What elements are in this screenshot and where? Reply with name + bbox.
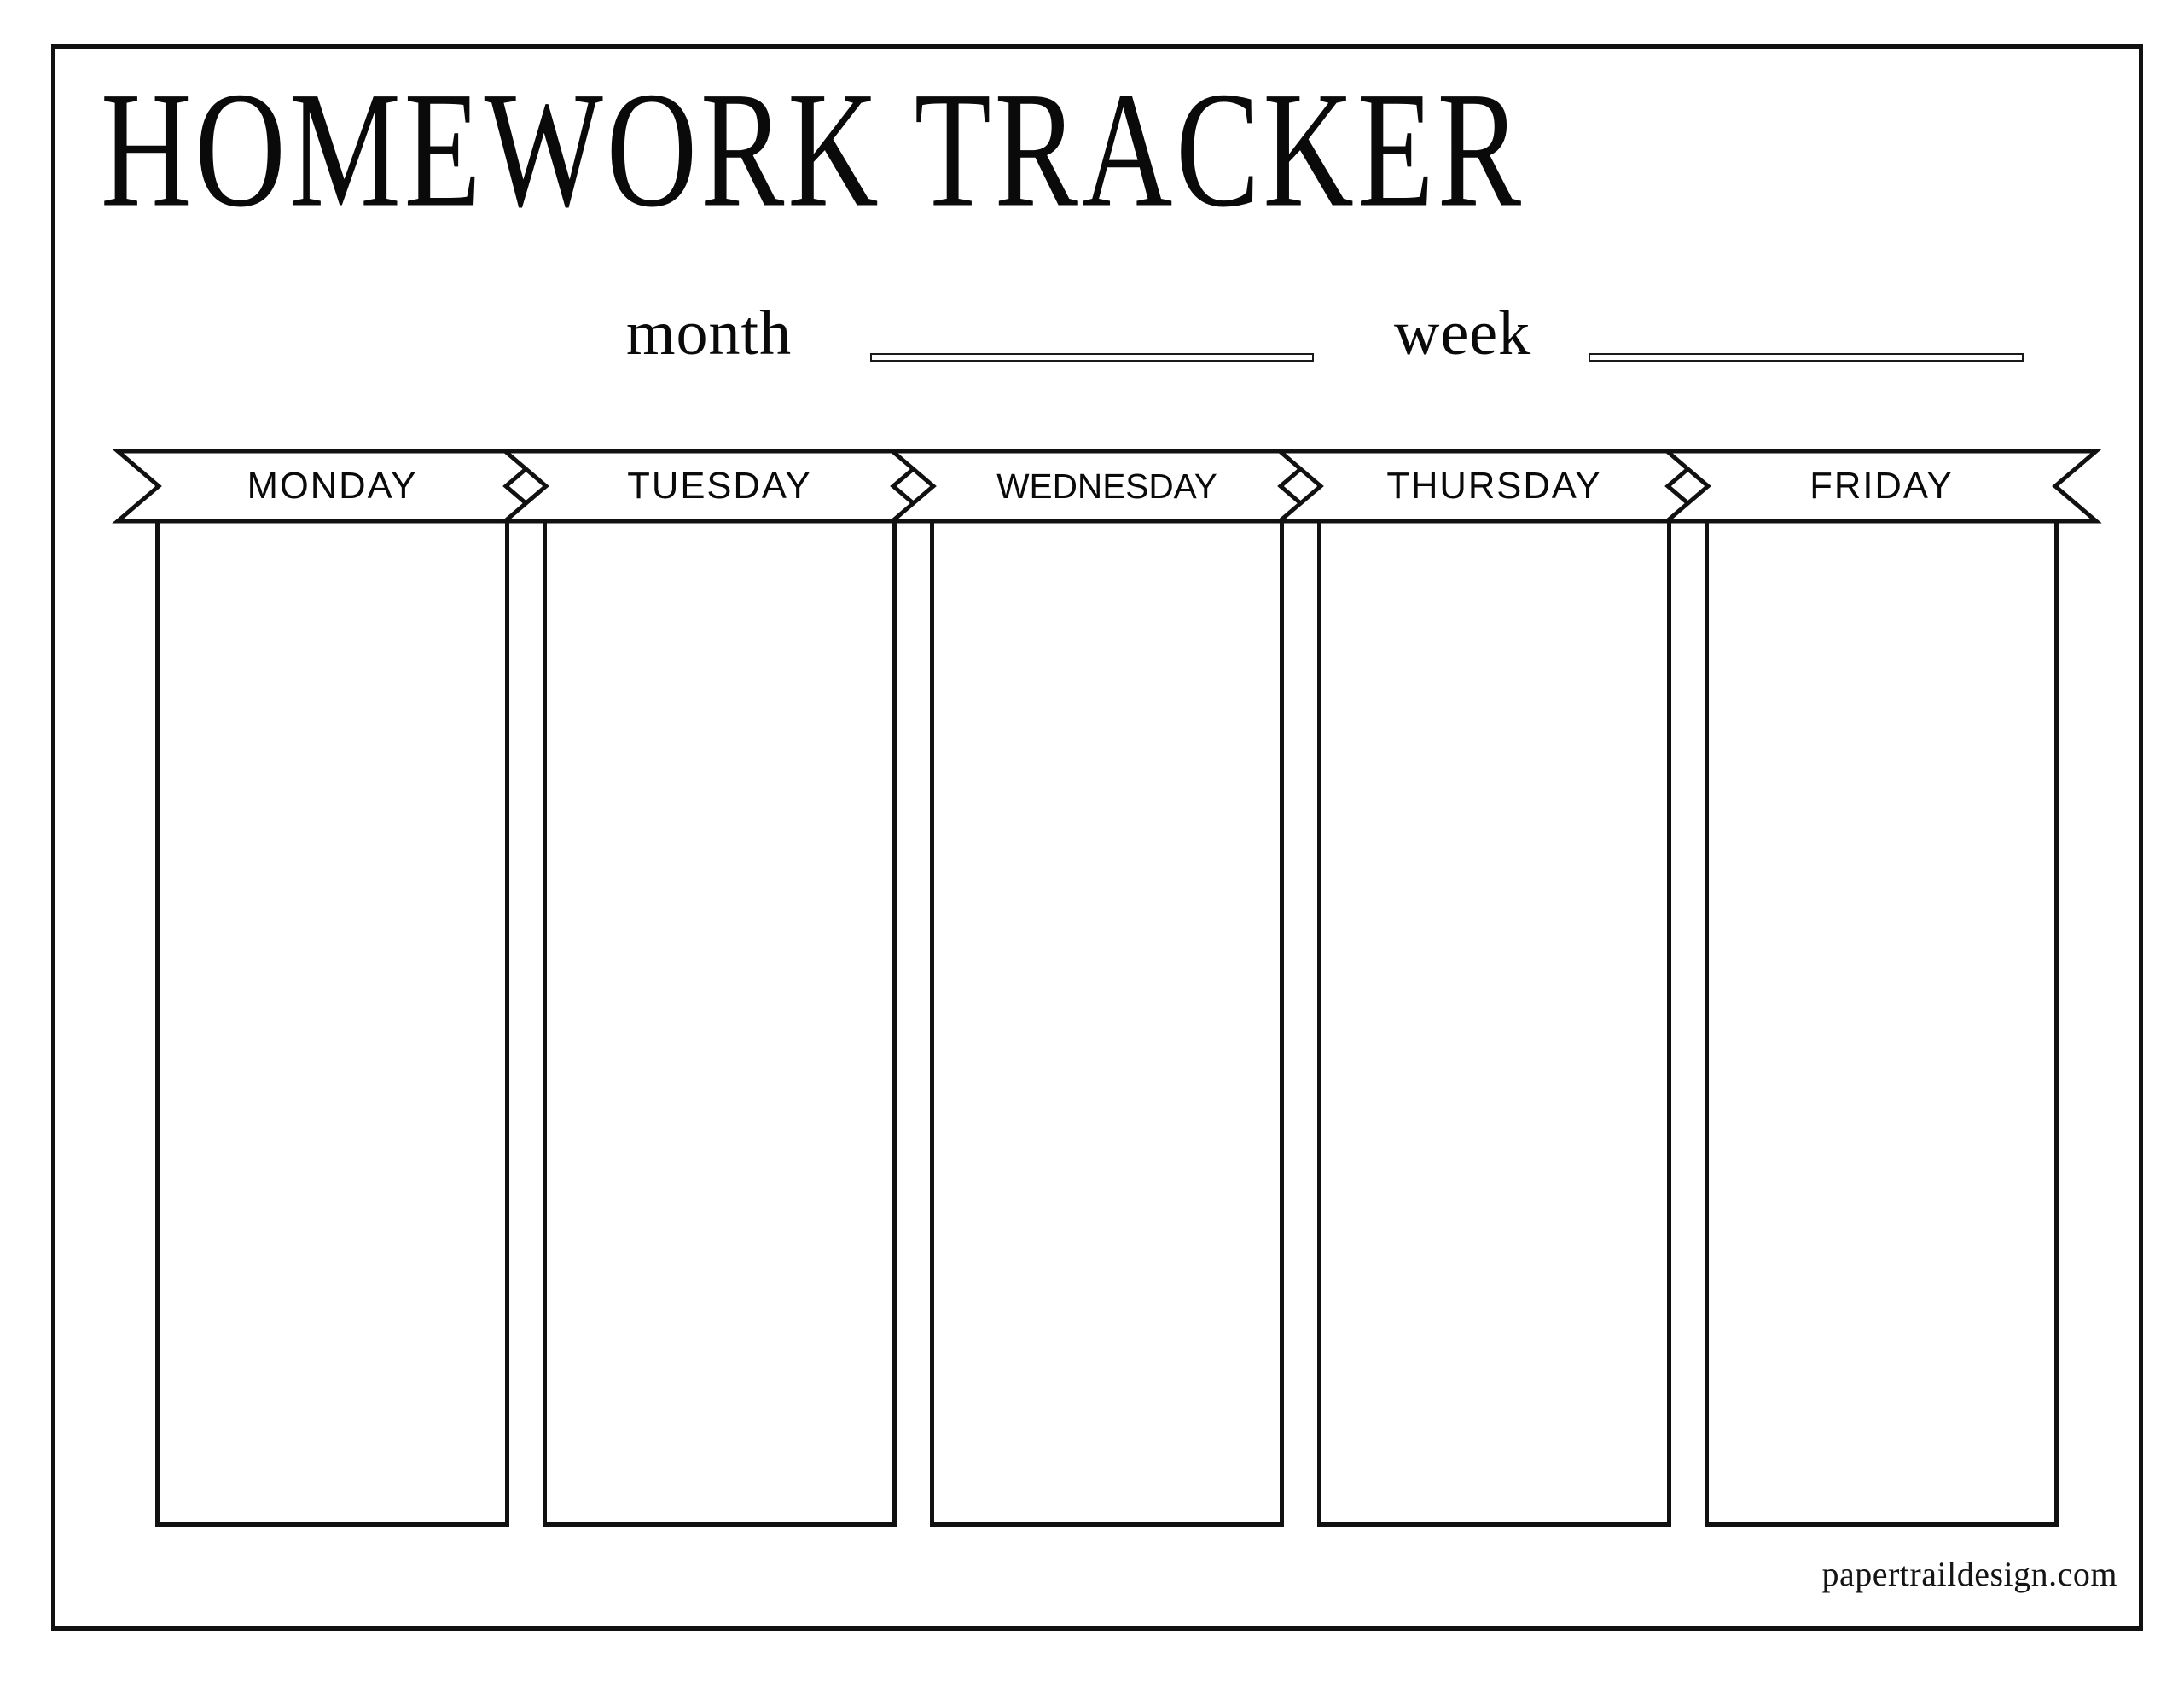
day-banner-thursday: THURSDAY [1280,451,1709,521]
printable-page: HOMEWORK TRACKER month week MONDAYTUESDA… [0,0,2184,1687]
day-column-thursday: THURSDAY [1317,484,1671,1527]
day-banner-label: TUESDAY [508,451,932,521]
day-column-friday: FRIDAY [1705,484,2059,1527]
day-banner-label: FRIDAY [1670,451,2094,521]
site-watermark: papertraildesign.com [1821,1554,2117,1594]
day-banner-wednesday: WEDNESDAY [892,451,1321,521]
day-banner-label: THURSDAY [1282,451,1707,521]
day-notes-area-tuesday[interactable] [543,484,897,1527]
day-columns-grid: MONDAYTUESDAYWEDNESDAYTHURSDAYFRIDAY [0,0,2184,1687]
day-notes-area-monday[interactable] [155,484,509,1527]
day-banner-monday: MONDAY [118,451,547,521]
day-notes-area-friday[interactable] [1705,484,2059,1527]
day-banner-friday: FRIDAY [1667,451,2096,521]
day-notes-area-wednesday[interactable] [930,484,1284,1527]
day-column-tuesday: TUESDAY [543,484,897,1527]
day-column-monday: MONDAY [155,484,509,1527]
day-banner-tuesday: TUESDAY [505,451,934,521]
day-column-wednesday: WEDNESDAY [930,484,1284,1527]
day-banner-label: MONDAY [120,451,545,521]
day-notes-area-thursday[interactable] [1317,484,1671,1527]
day-banner-label: WEDNESDAY [895,451,1320,521]
